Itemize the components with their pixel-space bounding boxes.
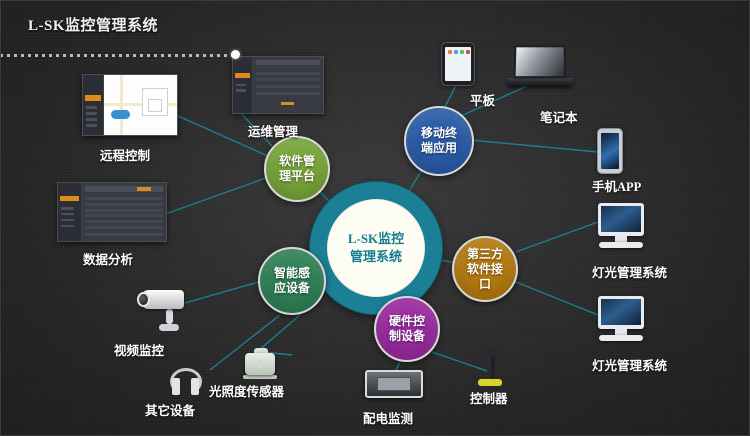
thumbnail-sidebar — [58, 183, 82, 241]
central-hub-label: L-SK监控 管理系统 — [348, 230, 404, 265]
label-laptop: 笔记本 — [540, 107, 578, 126]
label-lighting-management-system-1: 灯光管理系统 — [592, 262, 667, 281]
remote-control-thumbnail[interactable] — [82, 74, 178, 136]
node-label: 移动终 端应用 — [421, 126, 457, 156]
label-other-equipment: 其它设备 — [145, 400, 195, 419]
label-operation-maintenance: 运维管理 — [248, 121, 298, 140]
node-hardware-control-device[interactable]: 硬件控 制设备 — [374, 296, 440, 362]
label-controller: 控制器 — [470, 388, 508, 407]
central-hub-inner: L-SK监控 管理系统 — [327, 199, 425, 297]
thumbnail-form-body — [253, 57, 323, 113]
link-mobile-phone — [470, 140, 598, 152]
node-label: 软件管 理平台 — [279, 154, 315, 184]
title-dash-endpoint-dot — [231, 50, 240, 59]
diagram-canvas: L-SK监控管理系统 — [0, 0, 750, 436]
laptop-icon[interactable] — [514, 45, 573, 86]
tablet-icon[interactable] — [441, 42, 475, 86]
central-hub-node[interactable]: L-SK监控 管理系统 — [310, 182, 442, 314]
controller-icon[interactable] — [483, 348, 502, 386]
link-thirdparty-monitor1 — [516, 222, 598, 252]
node-label: 硬件控 制设备 — [389, 314, 425, 344]
node-third-party-software-interface[interactable]: 第三方 软件接 口 — [452, 236, 518, 302]
title-dashed-rule — [0, 54, 233, 57]
label-remote-control: 远程控制 — [100, 145, 150, 164]
data-analysis-thumbnail[interactable] — [57, 182, 167, 242]
label-data-analysis: 数据分析 — [83, 249, 133, 268]
label-lighting-management-system-2: 灯光管理系统 — [592, 355, 667, 374]
thumbnail-sidebar — [233, 57, 253, 113]
link-hardware-controller — [432, 352, 487, 371]
cctv-camera-icon[interactable] — [140, 290, 184, 331]
other-device-icon[interactable] — [170, 368, 204, 398]
node-mobile-terminal-application[interactable]: 移动终 端应用 — [404, 106, 474, 176]
link-sensing-cctv — [185, 281, 262, 303]
link-thirdparty-monitor2 — [516, 282, 598, 315]
node-label: 第三方 软件接 口 — [467, 247, 503, 292]
monitor-icon-2[interactable] — [598, 296, 644, 341]
node-label: 智能感 应设备 — [274, 266, 310, 296]
light-sensor-icon[interactable] — [245, 348, 277, 379]
monitor-icon-1[interactable] — [598, 203, 644, 248]
node-smart-sensing-device[interactable]: 智能感 应设备 — [258, 247, 326, 315]
node-software-management-platform[interactable]: 软件管 理平台 — [264, 136, 330, 202]
label-power-distribution-monitor: 配电监测 — [363, 408, 413, 427]
operation-maintenance-thumbnail[interactable] — [232, 56, 324, 114]
label-mobile-app: 手机APP — [592, 176, 641, 195]
thumbnail-table-body — [82, 183, 166, 241]
label-video-surveillance: 视频监控 — [114, 340, 164, 359]
page-title: L-SK监控管理系统 — [28, 14, 158, 35]
power-monitor-icon[interactable] — [365, 370, 423, 398]
thumbnail-map-body — [104, 75, 177, 135]
label-illuminance-sensor: 光照度传感器 — [209, 381, 284, 400]
label-tablet: 平板 — [470, 90, 495, 109]
phone-icon[interactable] — [597, 128, 623, 174]
thumbnail-sidebar — [83, 75, 104, 135]
